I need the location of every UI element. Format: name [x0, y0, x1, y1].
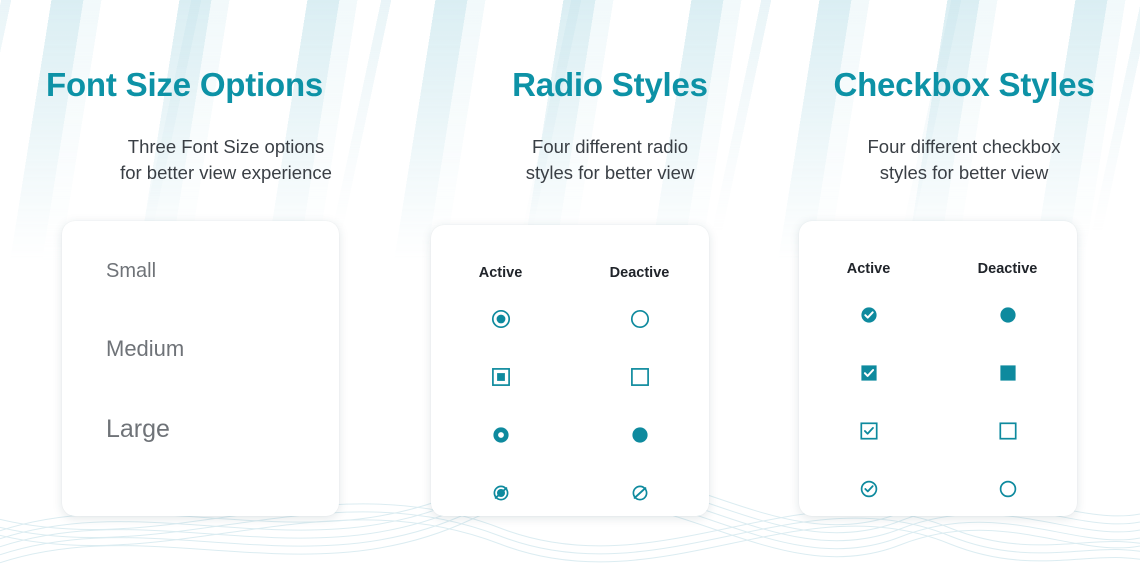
subtitle-line-1: Four different radio: [532, 136, 688, 157]
column-header-deactive: Deactive: [570, 225, 709, 281]
font-size-option-medium[interactable]: Medium: [106, 338, 339, 360]
card-checkbox-styles: Active Deactive: [799, 221, 1077, 516]
table-row: [799, 402, 1077, 460]
circle-outline-icon[interactable]: [938, 460, 1077, 518]
table-row: [431, 281, 709, 348]
column-header-active: Active: [799, 221, 938, 277]
page-title-checkbox-styles: Checkbox Styles: [788, 0, 1140, 101]
subtitle-checkbox-styles: Four different checkbox styles for bette…: [788, 101, 1140, 187]
card-radio-styles: Active Deactive: [431, 225, 709, 516]
page-title-radio-styles: Radio Styles: [450, 0, 770, 101]
card-font-size-options: Small Medium Large: [62, 221, 339, 516]
radio-circle-slash-filled-icon[interactable]: [431, 464, 570, 522]
check-circle-filled-icon[interactable]: [799, 277, 938, 344]
font-size-option-large[interactable]: Large: [106, 417, 339, 442]
subtitle-font-size: Three Font Size options for better view …: [46, 101, 400, 187]
check-square-filled-icon[interactable]: [799, 344, 938, 402]
column-header-active: Active: [431, 225, 570, 281]
radio-circle-outline-filled-dot-icon[interactable]: [431, 281, 570, 348]
circle-filled-icon[interactable]: [938, 277, 1077, 344]
table-row: [799, 344, 1077, 402]
radio-styles-table: Active Deactive: [431, 225, 709, 522]
table-row: [799, 277, 1077, 344]
columns-container: Font Size Options Three Font Size option…: [0, 0, 1140, 578]
font-size-option-list: Small Medium Large: [62, 221, 339, 442]
table-row: [799, 460, 1077, 518]
square-outline-icon[interactable]: [938, 402, 1077, 460]
radio-circle-outline-icon[interactable]: [570, 281, 709, 348]
radio-square-outline-icon[interactable]: [570, 348, 709, 406]
radio-circle-filled-hole-icon[interactable]: [431, 406, 570, 464]
page-title-font-size: Font Size Options: [46, 0, 400, 101]
font-size-option-small[interactable]: Small: [106, 261, 339, 281]
checkbox-styles-table: Active Deactive: [799, 221, 1077, 518]
subtitle-radio-styles: Four different radio styles for better v…: [450, 101, 770, 187]
subtitle-line-2: styles for better view: [526, 162, 695, 183]
table-row: [431, 348, 709, 406]
check-circle-outline-icon[interactable]: [799, 460, 938, 518]
radio-circle-filled-icon[interactable]: [570, 406, 709, 464]
check-square-outline-icon[interactable]: [799, 402, 938, 460]
radio-square-outline-filled-inner-icon[interactable]: [431, 348, 570, 406]
table-header-row: Active Deactive: [431, 225, 709, 281]
table-row: [431, 406, 709, 464]
table-header-row: Active Deactive: [799, 221, 1077, 277]
radio-circle-slash-outline-icon[interactable]: [570, 464, 709, 522]
subtitle-line-1: Three Font Size options: [128, 136, 324, 157]
square-filled-icon[interactable]: [938, 344, 1077, 402]
subtitle-line-1: Four different checkbox: [868, 136, 1061, 157]
subtitle-line-2: for better view experience: [120, 162, 332, 183]
column-header-deactive: Deactive: [938, 221, 1077, 277]
table-row: [431, 464, 709, 522]
subtitle-line-2: styles for better view: [880, 162, 1049, 183]
